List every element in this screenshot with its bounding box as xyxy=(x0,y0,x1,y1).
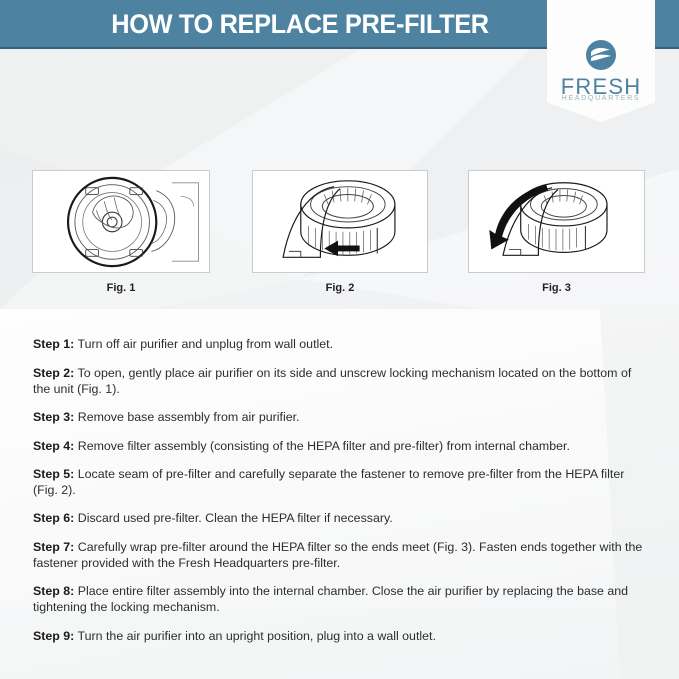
instruction-sheet: HOW TO REPLACE PRE-FILTER FRESH HEADQUAR… xyxy=(0,0,679,679)
step-label: Step 4: xyxy=(33,439,74,453)
step-text: Remove base assembly from air purifier. xyxy=(74,410,299,424)
brand-subwordmark: HEADQUARTERS xyxy=(547,95,655,102)
steps-list: Step 1: Turn off air purifier and unplug… xyxy=(33,324,648,651)
step-text: Remove filter assembly (consisting of th… xyxy=(74,439,570,453)
step-item: Step 9: Turn the air purifier into an up… xyxy=(33,628,648,644)
step-item: Step 6: Discard used pre-filter. Clean t… xyxy=(33,510,648,526)
step-label: Step 9: xyxy=(33,629,74,643)
figure-3-drawing xyxy=(469,171,644,272)
step-item: Step 8: Place entire filter assembly int… xyxy=(33,583,648,615)
figure-row: Fig. 1 Fig. 2 Fig. 3 xyxy=(0,170,679,300)
figure-2-drawing xyxy=(253,171,427,272)
step-label: Step 5: xyxy=(33,467,74,481)
figure-1-unscrew-base xyxy=(32,170,210,273)
wave-circle-icon xyxy=(585,39,617,71)
step-text: Place entire filter assembly into the in… xyxy=(33,584,628,614)
page-title: HOW TO REPLACE PRE-FILTER xyxy=(18,9,582,40)
step-label: Step 3: xyxy=(33,410,74,424)
step-label: Step 6: xyxy=(33,511,74,525)
figure-2-separate-prefilter xyxy=(252,170,428,273)
step-text: Turn the air purifier into an upright po… xyxy=(74,629,436,643)
step-item: Step 5: Locate seam of pre-filter and ca… xyxy=(33,466,648,498)
figure-3-wrap-prefilter xyxy=(468,170,645,273)
step-text: To open, gently place air purifier on it… xyxy=(33,366,631,396)
wave-circle-glyph xyxy=(585,39,617,71)
figure-1-caption: Fig. 1 xyxy=(32,282,210,294)
step-item: Step 4: Remove filter assembly (consisti… xyxy=(33,438,648,454)
figure-2-caption: Fig. 2 xyxy=(252,282,428,294)
step-text: Locate seam of pre-filter and carefully … xyxy=(33,467,624,497)
step-label: Step 2: xyxy=(33,366,74,380)
step-item: Step 3: Remove base assembly from air pu… xyxy=(33,409,648,425)
step-item: Step 1: Turn off air purifier and unplug… xyxy=(33,336,648,352)
step-item: Step 2: To open, gently place air purifi… xyxy=(33,365,648,397)
step-text: Carefully wrap pre-filter around the HEP… xyxy=(33,540,642,570)
figure-3-caption: Fig. 3 xyxy=(468,282,645,294)
step-item: Step 7: Carefully wrap pre-filter around… xyxy=(33,539,648,571)
step-label: Step 1: xyxy=(33,337,74,351)
step-text: Turn off air purifier and unplug from wa… xyxy=(74,337,333,351)
step-label: Step 8: xyxy=(33,584,74,598)
step-text: Discard used pre-filter. Clean the HEPA … xyxy=(74,511,392,525)
brand-logo-ribbon: FRESH HEADQUARTERS xyxy=(547,0,655,122)
step-label: Step 7: xyxy=(33,540,74,554)
figure-1-drawing xyxy=(33,171,209,272)
